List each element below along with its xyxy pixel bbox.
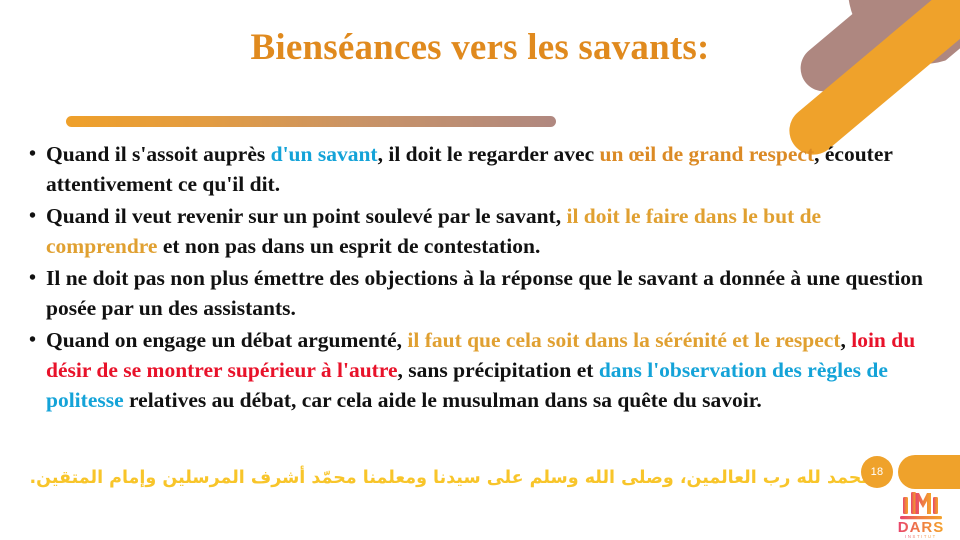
text-run-gold: il faut que cela soit dans la sérénité e… [407, 328, 840, 352]
dars-logo: DARS INSTITUT [886, 489, 956, 539]
text-run-black: Quand il s'assoit auprès [46, 142, 271, 166]
text-run-black: , sans précipitation et [398, 358, 599, 382]
bullet-list: Quand il s'assoit auprès d'un savant, il… [26, 139, 934, 417]
text-run-black: et non pas dans un esprit de contestatio… [157, 234, 540, 258]
text-run-black: , [840, 328, 851, 352]
list-item: Quand il veut revenir sur un point soule… [26, 201, 934, 261]
svg-text:INSTITUT: INSTITUT [905, 534, 937, 539]
list-item: Il ne doit pas non plus émettre des obje… [26, 263, 934, 323]
text-run-black: Quand il veut revenir sur un point soule… [46, 204, 566, 228]
title-divider-bar [66, 116, 556, 127]
arabic-closing-line: الحمد لله رب العالمين، وصلى الله وسلم عل… [0, 466, 882, 490]
orange-bottom-bar [898, 455, 960, 489]
text-run-black: Il ne doit pas non plus émettre des obje… [46, 266, 923, 320]
text-run-orange: un œil de grand respect [600, 142, 815, 166]
list-item: Quand on engage un débat argumenté, il f… [26, 325, 934, 415]
page-number-badge: 18 [861, 456, 893, 488]
text-run-black: relatives au débat, car cela aide le mus… [124, 388, 762, 412]
text-run-black: Quand on engage un débat argumenté, [46, 328, 407, 352]
slide-title: Bienséances vers les savants: [0, 26, 960, 69]
text-run-cyan: d'un savant [271, 142, 378, 166]
text-run-black: , il doit le regarder avec [378, 142, 600, 166]
slide-canvas: Bienséances vers les savants: Quand il s… [0, 0, 960, 540]
list-item: Quand il s'assoit auprès d'un savant, il… [26, 139, 934, 199]
